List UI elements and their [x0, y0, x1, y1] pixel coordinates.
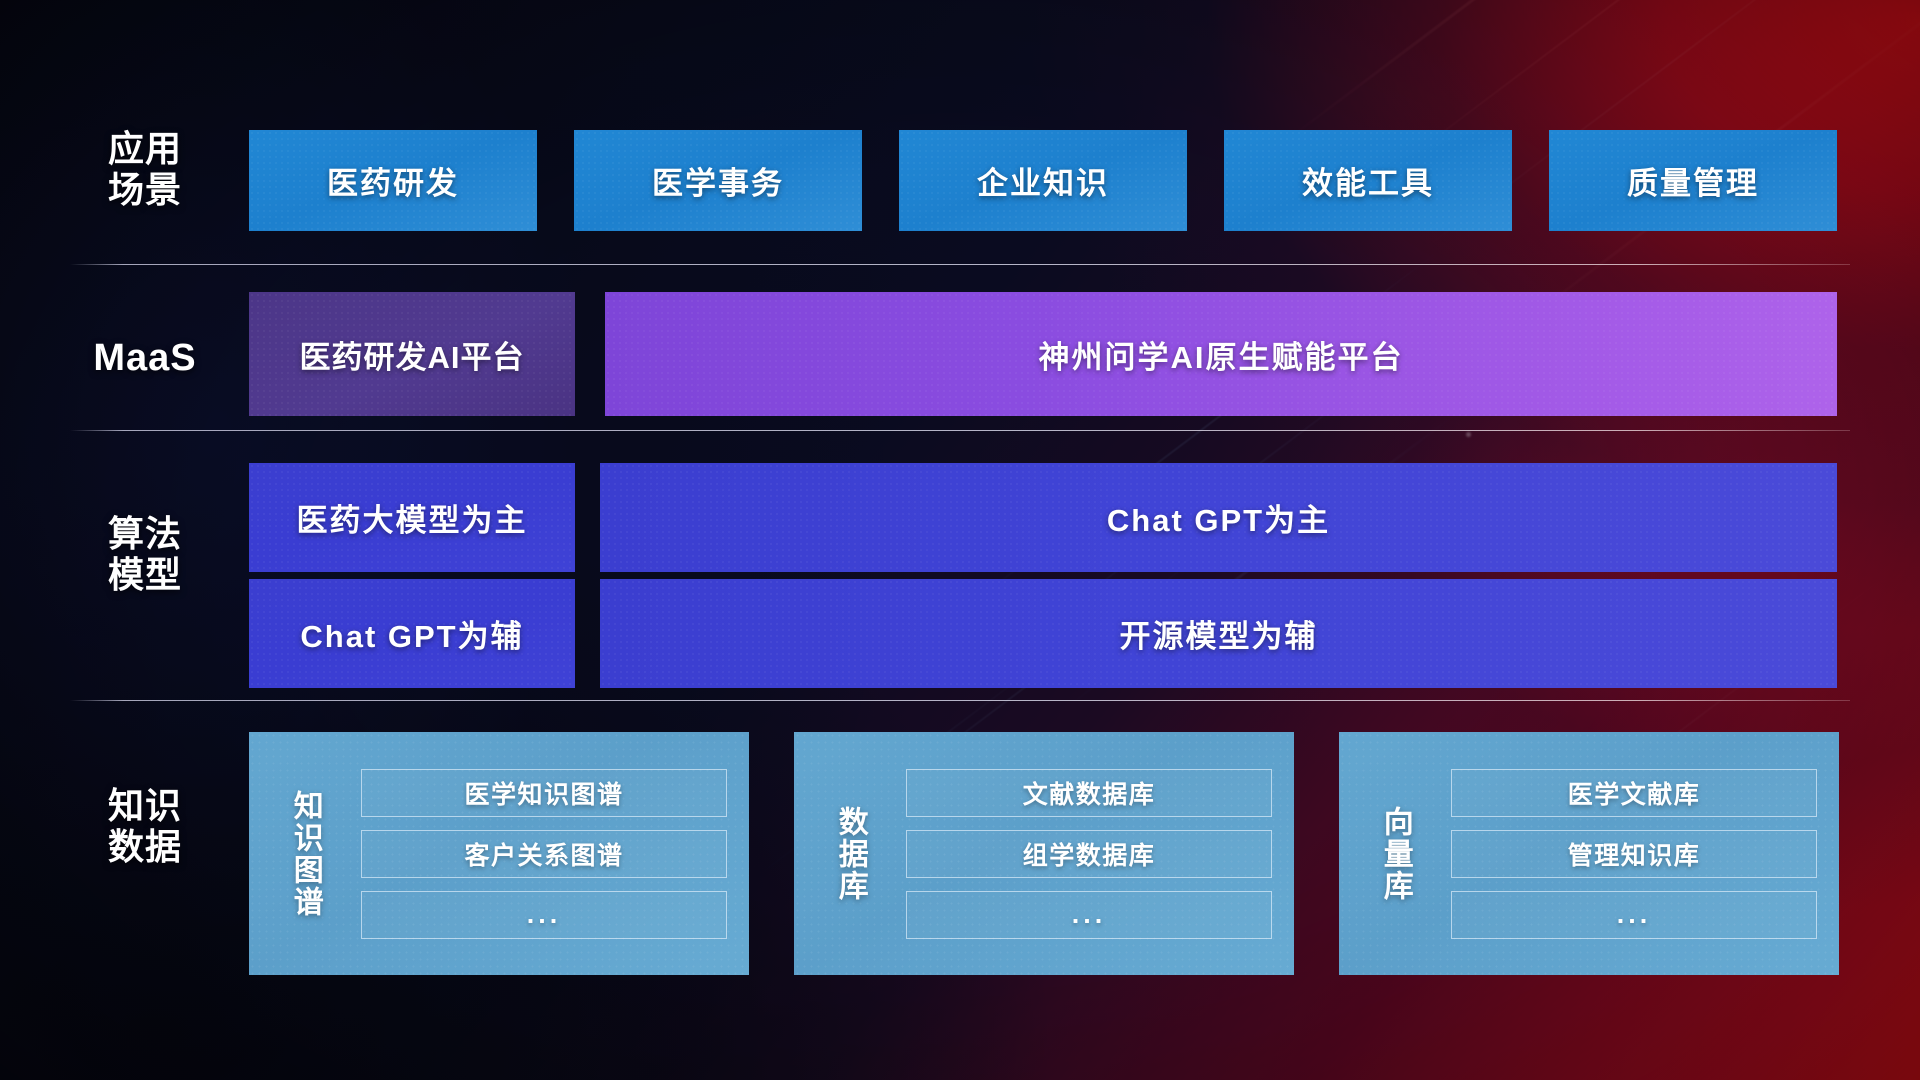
- knowledge-item-3-2[interactable]: 管理知识库: [1451, 830, 1817, 878]
- knowledge-item-1-1[interactable]: 医学知识图谱: [361, 769, 727, 817]
- algo-box-right-secondary[interactable]: 开源模型为辅: [600, 579, 1837, 688]
- knowledge-group-label-2: 数据库: [794, 732, 906, 975]
- algo-box-left-secondary[interactable]: Chat GPT为辅: [249, 579, 575, 688]
- app-scenario-label-2: 医学事务: [652, 158, 784, 203]
- knowledge-item-3-3[interactable]: ...: [1451, 891, 1817, 939]
- algo-label-right-primary: Chat GPT为主: [1107, 495, 1330, 540]
- divider-2: [70, 430, 1850, 431]
- app-scenario-box-5[interactable]: 质量管理: [1549, 130, 1837, 231]
- app-scenario-box-3[interactable]: 企业知识: [899, 130, 1187, 231]
- divider-3: [70, 700, 1850, 701]
- algo-box-left-primary[interactable]: 医药大模型为主: [249, 463, 575, 572]
- knowledge-item-2-3[interactable]: ...: [906, 891, 1272, 939]
- row-label-knowledge-data: 知识 数据: [70, 785, 220, 868]
- knowledge-item-list-2: 文献数据库 组学数据库 ...: [906, 732, 1294, 975]
- app-scenario-label-4: 效能工具: [1302, 158, 1434, 203]
- maas-label-pharma-ai-platform: 医药研发AI平台: [300, 332, 525, 377]
- divider-1: [70, 264, 1850, 265]
- row-label-application-scenarios: 应用 场景: [70, 128, 220, 211]
- algo-label-left-primary: 医药大模型为主: [297, 495, 528, 540]
- knowledge-item-1-3[interactable]: ...: [361, 891, 727, 939]
- row-label-maas: MaaS: [70, 337, 220, 381]
- knowledge-group-vector-store[interactable]: 向量库 医学文献库 管理知识库 ...: [1339, 732, 1839, 975]
- algo-label-right-secondary: 开源模型为辅: [1120, 611, 1318, 656]
- algo-box-right-primary[interactable]: Chat GPT为主: [600, 463, 1837, 572]
- knowledge-item-2-1[interactable]: 文献数据库: [906, 769, 1272, 817]
- knowledge-item-list-3: 医学文献库 管理知识库 ...: [1451, 732, 1839, 975]
- knowledge-group-label-3: 向量库: [1339, 732, 1451, 975]
- maas-box-shenzhou-platform[interactable]: 神州问学AI原生赋能平台: [605, 292, 1837, 416]
- row-label-algorithm-model: 算法 模型: [70, 513, 220, 596]
- app-scenario-box-4[interactable]: 效能工具: [1224, 130, 1512, 231]
- app-scenario-label-3: 企业知识: [977, 158, 1109, 203]
- app-scenario-label-1: 医药研发: [327, 158, 459, 203]
- knowledge-item-1-2[interactable]: 客户关系图谱: [361, 830, 727, 878]
- maas-box-pharma-ai-platform[interactable]: 医药研发AI平台: [249, 292, 575, 416]
- algo-label-left-secondary: Chat GPT为辅: [300, 611, 523, 656]
- knowledge-group-knowledge-graph[interactable]: 知识图谱 医学知识图谱 客户关系图谱 ...: [249, 732, 749, 975]
- app-scenario-box-1[interactable]: 医药研发: [249, 130, 537, 231]
- knowledge-group-label-1: 知识图谱: [249, 732, 361, 975]
- knowledge-group-database[interactable]: 数据库 文献数据库 组学数据库 ...: [794, 732, 1294, 975]
- knowledge-item-3-1[interactable]: 医学文献库: [1451, 769, 1817, 817]
- app-scenario-box-2[interactable]: 医学事务: [574, 130, 862, 231]
- knowledge-item-list-1: 医学知识图谱 客户关系图谱 ...: [361, 732, 749, 975]
- app-scenario-label-5: 质量管理: [1627, 158, 1759, 203]
- knowledge-item-2-2[interactable]: 组学数据库: [906, 830, 1272, 878]
- maas-label-shenzhou-platform: 神州问学AI原生赋能平台: [1039, 332, 1404, 377]
- architecture-diagram: 应用 场景 MaaS 算法 模型 知识 数据 医药研发 医学事务 企业知识 效能…: [0, 0, 1920, 1080]
